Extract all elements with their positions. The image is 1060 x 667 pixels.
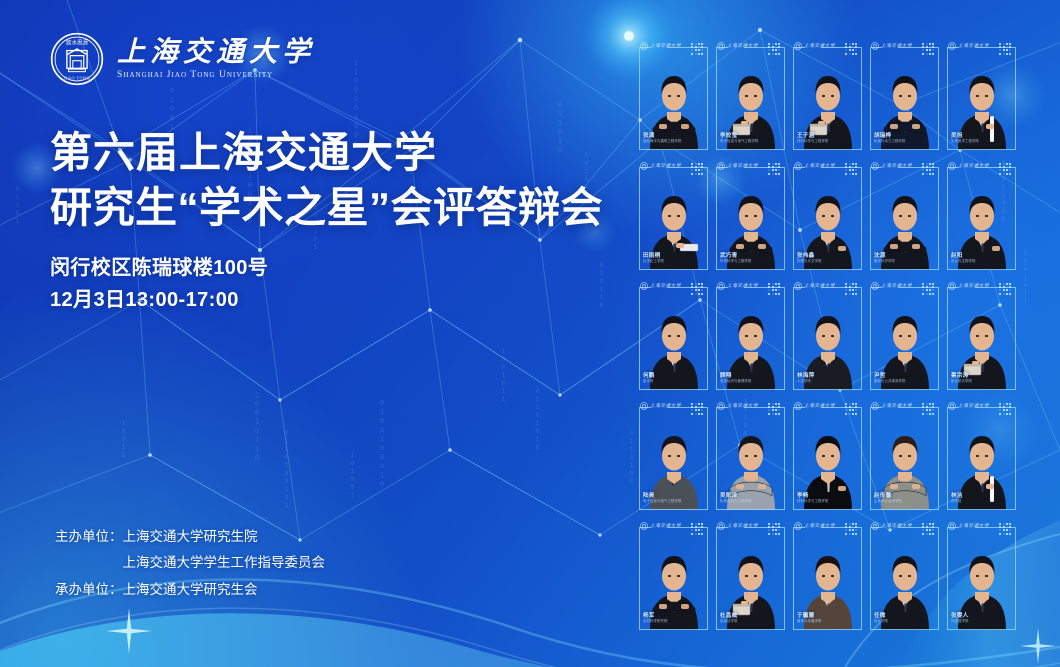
sjtu-seal-icon xyxy=(794,402,802,410)
card-sjtu-logo: 上海交通大学 xyxy=(640,402,681,410)
card-logo-text: 上海交通大学 xyxy=(804,403,835,409)
nominee-affiliation: 环境科学与工程学院 xyxy=(720,260,751,264)
nominee-card[interactable]: 上海交通大学 杜昌威 凯原法学院 xyxy=(713,518,786,632)
card-logo-text: 上海交通大学 xyxy=(650,163,681,169)
nominee-caption: 任微 设计学院 xyxy=(874,613,888,624)
dot-matrix-icon xyxy=(922,43,934,55)
title-line-2: 研究生“学术之星”会评答辩会 xyxy=(50,180,615,235)
card-logo-text: 上海交通大学 xyxy=(881,163,912,169)
nominee-caption: 于馨蕾 媒体与传播学院 xyxy=(797,613,821,624)
card-logo-text: 上海交通大学 xyxy=(727,403,758,409)
sjtu-seal-icon xyxy=(948,522,956,530)
dot-matrix-icon xyxy=(845,523,857,535)
nominee-card[interactable]: 上海交通大学 尹哲 国际与公共事务学院 xyxy=(867,278,940,392)
title-line-1: 第六届上海交通大学 xyxy=(50,125,615,180)
dot-matrix-icon xyxy=(768,403,780,415)
card-sjtu-logo: 上海交通大学 xyxy=(871,522,912,530)
sjtu-seal-icon xyxy=(948,282,956,290)
nominee-card[interactable]: 上海交通大学 于馨蕾 媒体与传播学院 xyxy=(790,518,863,632)
card-sjtu-logo: 上海交通大学 xyxy=(717,402,758,410)
card-logo-text: 上海交通大学 xyxy=(958,283,989,289)
nominee-card[interactable]: 上海交通大学 陆昊 电子信息与电气工程学院 xyxy=(636,398,709,512)
nominee-caption: 武巧青 环境科学与工程学院 xyxy=(720,253,751,264)
nominee-card[interactable]: 上海交通大学 林海萍 人文学院 xyxy=(790,278,863,392)
university-brand-lockup: 飲水思源 JIAO TONG 上海交通大学 Shanghai Jiao Tong… xyxy=(50,32,315,86)
nominee-caption: 尹哲 国际与公共事务学院 xyxy=(874,373,905,384)
nominee-affiliation: 设计学院 xyxy=(874,620,888,624)
nominee-affiliation: 化学化工学院 xyxy=(643,260,664,264)
nominee-caption: 胡瑞桦 机械与动力工程学院 xyxy=(874,133,905,144)
nominee-caption: 蔡宗涛 航空航天学院 xyxy=(951,373,972,384)
nominee-affiliation: 安泰经济与管理学院 xyxy=(720,380,751,384)
nominee-card[interactable]: 上海交通大学 武巧青 环境科学与工程学院 xyxy=(713,158,786,272)
card-sjtu-logo: 上海交通大学 xyxy=(640,162,681,170)
sjtu-seal-icon xyxy=(794,42,802,50)
card-logo-text: 上海交通大学 xyxy=(958,523,989,529)
nominee-caption: 张潇 船舶海洋与建筑工程学院 xyxy=(643,133,681,144)
nominee-affiliation: 材料科学与工程学院 xyxy=(797,140,828,144)
card-logo-text: 上海交通大学 xyxy=(958,43,989,49)
nominee-card[interactable]: 上海交通大学 沈源 数学科学学院 xyxy=(867,158,940,272)
nominee-card[interactable]: 上海交通大学 张雯人 外国语学院 xyxy=(944,518,1017,632)
sjtu-seal-icon xyxy=(794,162,802,170)
card-sjtu-logo: 上海交通大学 xyxy=(871,402,912,410)
nominee-card[interactable]: 上海交通大学 胡瑞桦 机械与动力工程学院 xyxy=(867,38,940,152)
dot-matrix-icon xyxy=(999,163,1011,175)
nominee-affiliation: 凯原法学院 xyxy=(720,620,737,624)
card-logo-text: 上海交通大学 xyxy=(804,43,835,49)
card-sjtu-logo: 上海交通大学 xyxy=(717,162,758,170)
nominee-affiliation: 人文学院 xyxy=(797,380,814,384)
binary-code-column: 0110100 xyxy=(628,430,635,486)
card-sjtu-logo: 上海交通大学 xyxy=(717,282,758,290)
nominee-affiliation: 药学院 xyxy=(951,500,963,504)
nominee-caption: 王子涵 材料科学与工程学院 xyxy=(797,133,828,144)
left-content-column: 飲水思源 JIAO TONG 上海交通大学 Shanghai Jiao Tong… xyxy=(0,0,625,667)
card-sjtu-logo: 上海交通大学 xyxy=(640,282,681,290)
poster-canvas: 01001010 10110100110 0101101 1100101001 … xyxy=(0,0,1060,667)
nominee-affiliation: 农业与生物学院 xyxy=(951,260,975,264)
dot-matrix-icon xyxy=(999,403,1011,415)
sjtu-seal-icon xyxy=(717,402,725,410)
nominee-affiliation: 船舶海洋与建筑工程学院 xyxy=(643,140,681,144)
nominee-caption: 张伟鑫 物理与天文学院 xyxy=(797,253,821,264)
event-title: 第六届上海交通大学 研究生“学术之星”会评答辩会 xyxy=(50,125,615,236)
organizer-row: 主办单位： 上海交通大学研究生院 xyxy=(55,524,325,550)
dot-matrix-icon xyxy=(922,283,934,295)
event-meta: 闵行校区陈瑞球楼100号 12月3日13:00-17:00 xyxy=(50,252,268,317)
nominee-card[interactable]: 上海交通大学 赵传馨 生命科学技术学院 xyxy=(867,398,940,512)
card-sjtu-logo: 上海交通大学 xyxy=(871,282,912,290)
nominee-caption: 沈源 数学科学学院 xyxy=(874,253,895,264)
nominee-caption: 赵阳 农业与生物学院 xyxy=(951,253,975,264)
sjtu-seal-icon xyxy=(640,282,648,290)
nominee-affiliation: 媒体与传播学院 xyxy=(797,620,821,624)
nominee-card[interactable]: 上海交通大学 田雨桐 化学化工学院 xyxy=(636,158,709,272)
organizer-row: 主办单位： 上海交通大学学生工作指导委员会 xyxy=(55,550,325,576)
nominee-affiliation: 生命科学技术学院 xyxy=(874,500,902,504)
nominee-caption: 吴凯泽 机械与动力工程学院 xyxy=(720,493,751,504)
nominee-card[interactable]: 上海交通大学 吴旭 生物医学工程学院 xyxy=(944,38,1017,152)
sjtu-seal-icon xyxy=(794,522,802,530)
nominee-card[interactable]: 上海交通大学 杨军 自然科学研究院 xyxy=(636,518,709,632)
dot-matrix-icon xyxy=(845,283,857,295)
sjtu-seal-icon xyxy=(717,282,725,290)
sjtu-seal-icon xyxy=(640,522,648,530)
dot-matrix-icon xyxy=(845,163,857,175)
dot-matrix-icon xyxy=(845,403,857,415)
nominee-caption: 张雯人 外国语学院 xyxy=(951,613,968,624)
sjtu-seal-icon xyxy=(640,42,648,50)
nominee-caption: 何鹏 医学院 xyxy=(643,373,655,384)
organizer-label: 承办单位： xyxy=(55,577,123,603)
card-logo-text: 上海交通大学 xyxy=(650,403,681,409)
nominee-card[interactable]: 上海交通大学 赵阳 农业与生物学院 xyxy=(944,158,1017,272)
sjtu-seal-icon xyxy=(794,282,802,290)
event-venue: 闵行校区陈瑞球楼100号 xyxy=(50,252,268,284)
sjtu-seal-icon xyxy=(871,282,879,290)
nominee-caption: 林洁 药学院 xyxy=(951,493,963,504)
card-sjtu-logo: 上海交通大学 xyxy=(794,402,835,410)
card-sjtu-logo: 上海交通大学 xyxy=(794,42,835,50)
sjtu-seal-icon xyxy=(871,402,879,410)
nominee-affiliation: 物理与天文学院 xyxy=(797,260,821,264)
nominee-card[interactable]: 上海交通大学 李畅 材料科学与工程学院 xyxy=(790,398,863,512)
sjtu-seal-icon xyxy=(871,162,879,170)
card-logo-text: 上海交通大学 xyxy=(804,523,835,529)
sjtu-seal-icon xyxy=(640,402,648,410)
organizer-row: 承办单位： 上海交通大学研究生会 xyxy=(55,577,325,603)
nominee-affiliation: 医学院 xyxy=(643,380,655,384)
card-logo-text: 上海交通大学 xyxy=(881,283,912,289)
nominee-card[interactable]: 上海交通大学 张伟鑫 物理与天文学院 xyxy=(790,158,863,272)
nominee-affiliation: 电子信息与电气工程学院 xyxy=(643,500,681,504)
nominee-caption: 赵传馨 生命科学技术学院 xyxy=(874,493,902,504)
dot-matrix-icon xyxy=(768,283,780,295)
card-logo-text: 上海交通大学 xyxy=(650,283,681,289)
nominee-card[interactable]: 上海交通大学 林洁 药学院 xyxy=(944,398,1017,512)
nominee-caption: 吴旭 生物医学工程学院 xyxy=(951,133,979,144)
dot-matrix-icon xyxy=(922,403,934,415)
organizer-value: 上海交通大学研究生会 xyxy=(123,577,258,603)
nominee-card[interactable]: 上海交通大学 吴凯泽 机械与动力工程学院 xyxy=(713,398,786,512)
card-logo-text: 上海交通大学 xyxy=(727,523,758,529)
organizer-block: 主办单位： 上海交通大学研究生院 主办单位： 上海交通大学学生工作指导委员会 承… xyxy=(55,524,325,603)
dot-matrix-icon xyxy=(845,43,857,55)
university-name-en: Shanghai Jiao Tong University xyxy=(117,70,315,80)
organizer-value: 上海交通大学研究生院 xyxy=(123,524,258,550)
card-logo-text: 上海交通大学 xyxy=(804,283,835,289)
dot-matrix-icon xyxy=(999,283,1011,295)
binary-code-column: 1001011 xyxy=(1022,250,1029,306)
nominee-affiliation: 机械与动力工程学院 xyxy=(720,500,751,504)
nominee-affiliation: 数学科学学院 xyxy=(874,260,895,264)
card-logo-text: 上海交通大学 xyxy=(958,163,989,169)
card-logo-text: 上海交通大学 xyxy=(881,403,912,409)
card-sjtu-logo: 上海交通大学 xyxy=(794,522,835,530)
nominee-caption: 李姣莹 电子信息与电气工程学院 xyxy=(720,133,758,144)
card-logo-text: 上海交通大学 xyxy=(804,163,835,169)
sjtu-seal-icon xyxy=(871,42,879,50)
card-logo-text: 上海交通大学 xyxy=(881,523,912,529)
nominee-caption: 林海萍 人文学院 xyxy=(797,373,814,384)
dot-matrix-icon xyxy=(691,283,703,295)
svg-text:飲水思源: 飲水思源 xyxy=(66,39,88,47)
card-sjtu-logo: 上海交通大学 xyxy=(948,162,989,170)
card-sjtu-logo: 上海交通大学 xyxy=(948,42,989,50)
nominee-caption: 田雨桐 化学化工学院 xyxy=(643,253,664,264)
nominee-caption: 杜昌威 凯原法学院 xyxy=(720,613,737,624)
nominee-caption: 陆昊 电子信息与电气工程学院 xyxy=(643,493,681,504)
nominee-card[interactable]: 上海交通大学 李姣莹 电子信息与电气工程学院 xyxy=(713,38,786,152)
nominee-card[interactable]: 上海交通大学 王子涵 材料科学与工程学院 xyxy=(790,38,863,152)
card-sjtu-logo: 上海交通大学 xyxy=(871,162,912,170)
dot-matrix-icon xyxy=(691,403,703,415)
dot-matrix-icon xyxy=(999,523,1011,535)
sjtu-seal-icon: 飲水思源 JIAO TONG xyxy=(50,32,104,86)
nominee-card[interactable]: 上海交通大学 任微 设计学院 xyxy=(867,518,940,632)
nominee-caption: 李畅 材料科学与工程学院 xyxy=(797,493,828,504)
event-datetime: 12月3日13:00-17:00 xyxy=(50,284,268,316)
sjtu-seal-icon xyxy=(948,162,956,170)
card-logo-text: 上海交通大学 xyxy=(727,43,758,49)
card-logo-text: 上海交通大学 xyxy=(727,283,758,289)
nominee-caption: 顾翔 安泰经济与管理学院 xyxy=(720,373,751,384)
dot-matrix-icon xyxy=(691,163,703,175)
sjtu-seal-icon xyxy=(948,402,956,410)
sjtu-seal-icon xyxy=(871,522,879,530)
sjtu-seal-icon xyxy=(717,42,725,50)
nominee-affiliation: 自然科学研究院 xyxy=(643,620,667,624)
brand-text-group: 上海交通大学 Shanghai Jiao Tong University xyxy=(117,38,315,79)
card-sjtu-logo: 上海交通大学 xyxy=(948,402,989,410)
dot-matrix-icon xyxy=(691,523,703,535)
nominee-card[interactable]: 上海交通大学 何鹏 医学院 xyxy=(636,278,709,392)
sjtu-seal-icon xyxy=(717,522,725,530)
nominee-affiliation: 航空航天学院 xyxy=(951,380,972,384)
card-sjtu-logo: 上海交通大学 xyxy=(794,282,835,290)
svg-text:JIAO TONG: JIAO TONG xyxy=(64,75,90,80)
dot-matrix-icon xyxy=(922,163,934,175)
nominee-affiliation: 生物医学工程学院 xyxy=(951,140,979,144)
card-logo-text: 上海交通大学 xyxy=(650,523,681,529)
card-sjtu-logo: 上海交通大学 xyxy=(640,522,681,530)
card-sjtu-logo: 上海交通大学 xyxy=(948,282,989,290)
card-logo-text: 上海交通大学 xyxy=(881,43,912,49)
nominee-affiliation: 电子信息与电气工程学院 xyxy=(720,140,758,144)
card-logo-text: 上海交通大学 xyxy=(650,43,681,49)
star-sparkle-icon xyxy=(1020,628,1056,664)
dot-matrix-icon xyxy=(691,43,703,55)
organizer-value: 上海交通大学学生工作指导委员会 xyxy=(123,550,326,576)
nominee-card[interactable]: 上海交通大学 蔡宗涛 航空航天学院 xyxy=(944,278,1017,392)
nominee-affiliation: 国际与公共事务学院 xyxy=(874,380,905,384)
card-logo-text: 上海交通大学 xyxy=(958,403,989,409)
card-logo-text: 上海交通大学 xyxy=(727,163,758,169)
sjtu-seal-icon xyxy=(717,162,725,170)
dot-matrix-icon xyxy=(999,43,1011,55)
nominee-card[interactable]: 上海交通大学 顾翔 安泰经济与管理学院 xyxy=(713,278,786,392)
card-sjtu-logo: 上海交通大学 xyxy=(871,42,912,50)
organizer-label: 主办单位： xyxy=(55,524,123,550)
sjtu-seal-icon xyxy=(640,162,648,170)
dot-matrix-icon xyxy=(922,523,934,535)
nominee-affiliation: 材料科学与工程学院 xyxy=(797,500,828,504)
nominee-card[interactable]: 上海交通大学 张潇 船舶海洋与建筑工程学院 xyxy=(636,38,709,152)
university-name-cn: 上海交通大学 xyxy=(117,38,315,67)
nominee-caption: 杨军 自然科学研究院 xyxy=(643,613,667,624)
card-sjtu-logo: 上海交通大学 xyxy=(948,522,989,530)
nominee-affiliation: 外国语学院 xyxy=(951,620,968,624)
nominee-photo-grid: 上海交通大学 张潇 船舶海洋与建筑工程学院 xyxy=(636,38,1017,632)
card-sjtu-logo: 上海交通大学 xyxy=(717,522,758,530)
card-sjtu-logo: 上海交通大学 xyxy=(640,42,681,50)
card-sjtu-logo: 上海交通大学 xyxy=(794,162,835,170)
nominee-affiliation: 机械与动力工程学院 xyxy=(874,140,905,144)
card-sjtu-logo: 上海交通大学 xyxy=(717,42,758,50)
dot-matrix-icon xyxy=(768,523,780,535)
sjtu-seal-icon xyxy=(948,42,956,50)
dot-matrix-icon xyxy=(768,43,780,55)
dot-matrix-icon xyxy=(768,163,780,175)
